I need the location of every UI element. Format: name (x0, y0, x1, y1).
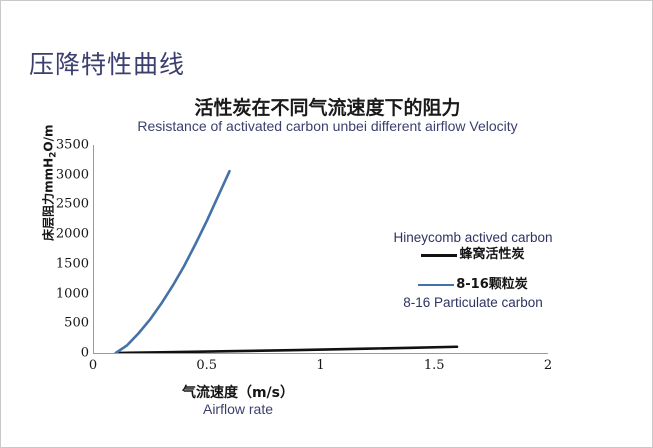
x-axis-tick: 1 (301, 358, 341, 373)
y-axis-tick: 500 (39, 316, 89, 331)
legend-swatch-honeycomb (421, 254, 457, 257)
slide-canvas: 压降特性曲线 活性炭在不同气流速度下的阻力 Resistance of acti… (0, 0, 653, 448)
x-axis-title-english: Airflow rate (93, 401, 383, 417)
chart-legend: Hineycomb actived carbon 蜂窝活性炭 8-16颗粒炭 8… (373, 229, 573, 323)
x-axis-tick: 0.5 (187, 358, 227, 373)
x-axis-tick: 0 (73, 358, 113, 373)
legend-item-honeycomb: Hineycomb actived carbon 蜂窝活性炭 (373, 229, 573, 264)
legend-item-particulate: 8-16颗粒炭 8-16 Particulate carbon (373, 276, 573, 311)
y-axis-title: 床层阻力mmH2O/m (39, 108, 58, 258)
chart-title-chinese: 活性炭在不同气流速度下的阻力 (1, 93, 653, 120)
y-axis-title-pre: 床层阻力mmH (41, 158, 55, 241)
legend-row-honeycomb: 蜂窝活性炭 (373, 246, 573, 264)
x-axis-title-chinese: 气流速度（m/s） (93, 382, 383, 402)
y-axis-title-sub: 2 (49, 152, 59, 158)
legend-label-honeycomb: 蜂窝活性炭 (459, 246, 524, 264)
legend-label-particulate: 8-16颗粒炭 (456, 276, 528, 294)
x-axis-line (93, 353, 548, 354)
x-axis-tick-labels: 00.511.52 (93, 358, 548, 378)
legend-caption-english-top: Hineycomb actived carbon (373, 229, 573, 246)
legend-swatch-particulate (418, 284, 454, 286)
legend-caption-english-bottom: 8-16 Particulate carbon (373, 294, 573, 311)
y-axis-tick: 1000 (39, 286, 89, 301)
series-line-honeycomb (116, 347, 457, 353)
x-axis-tick: 1.5 (414, 358, 454, 373)
series-line-particulate (116, 171, 230, 353)
chart-subtitle-english: Resistance of activated carbon unbei dif… (1, 118, 653, 134)
legend-row-particulate: 8-16颗粒炭 (373, 276, 573, 294)
pressure-drop-chart: 活性炭在不同气流速度下的阻力 Resistance of activated c… (1, 1, 653, 448)
y-axis-tick: 1500 (39, 256, 89, 271)
y-axis-title-post: O/m (41, 124, 55, 151)
x-axis-tick: 2 (528, 358, 568, 373)
